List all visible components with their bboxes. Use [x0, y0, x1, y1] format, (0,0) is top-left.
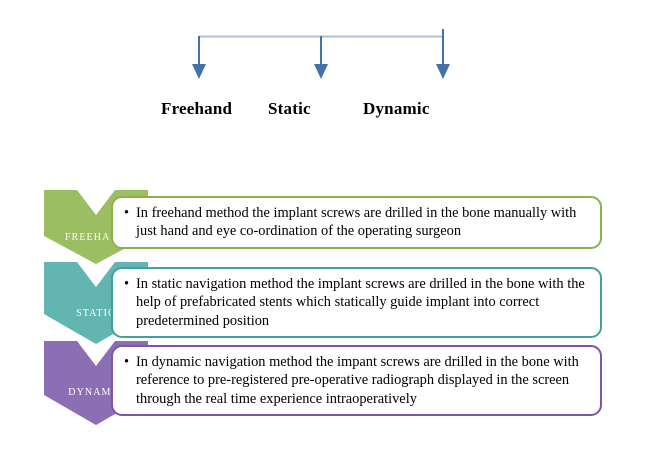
method-row-freehand: FREEHAND In freehand method the implant …: [40, 190, 602, 264]
callout-dynamic: In dynamic navigation method the impant …: [111, 345, 602, 416]
callout-text-static: In static navigation method the implant …: [113, 269, 600, 336]
method-row-static: STATIC In static navigation method the i…: [40, 262, 602, 344]
callout-freehand: In freehand method the implant screws ar…: [111, 196, 602, 249]
callout-static: In static navigation method the implant …: [111, 267, 602, 338]
method-rows: FREEHAND In freehand method the implant …: [0, 0, 656, 455]
callout-text-freehand: In freehand method the implant screws ar…: [113, 198, 600, 247]
method-row-dynamic: DYNAMIC In dynamic navigation method the…: [40, 341, 602, 425]
callout-text-dynamic: In dynamic navigation method the impant …: [113, 347, 600, 414]
